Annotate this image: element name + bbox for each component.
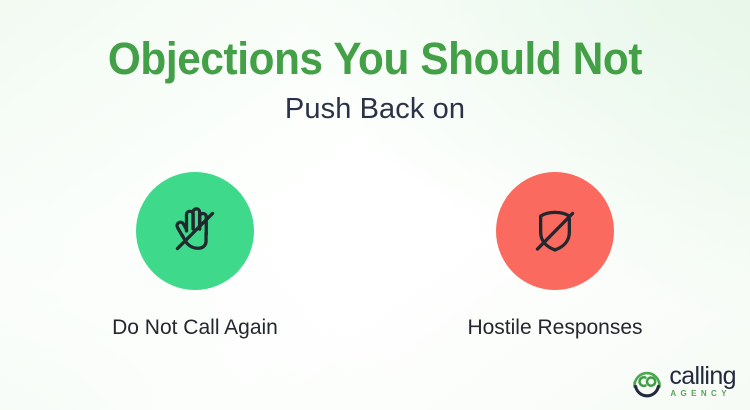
headset-ca-icon	[630, 366, 664, 398]
list-item: Hostile Responses	[455, 172, 655, 339]
badge-hostile-responses	[496, 172, 614, 290]
page-subtitle: Push Back on	[0, 95, 750, 124]
list-item-label: Hostile Responses	[467, 316, 642, 339]
page-title: Objections You Should Not	[23, 36, 728, 81]
brand-tagline: AGENCY	[670, 390, 736, 398]
slide-canvas: Objections You Should Not Push Back on	[0, 0, 750, 410]
brand-name: calling	[669, 365, 736, 389]
brand-logo-text: calling AGENCY	[669, 365, 736, 398]
badge-do-not-call	[136, 172, 254, 290]
list-item: Do Not Call Again	[95, 172, 295, 339]
hand-slash-icon	[161, 197, 229, 265]
list-item-label: Do Not Call Again	[112, 316, 278, 339]
brand-logo: calling AGENCY	[630, 365, 736, 398]
heading-block: Objections You Should Not Push Back on	[0, 36, 750, 124]
shield-slash-icon	[521, 197, 589, 265]
items-row: Do Not Call Again Hostile Responses	[0, 172, 750, 339]
